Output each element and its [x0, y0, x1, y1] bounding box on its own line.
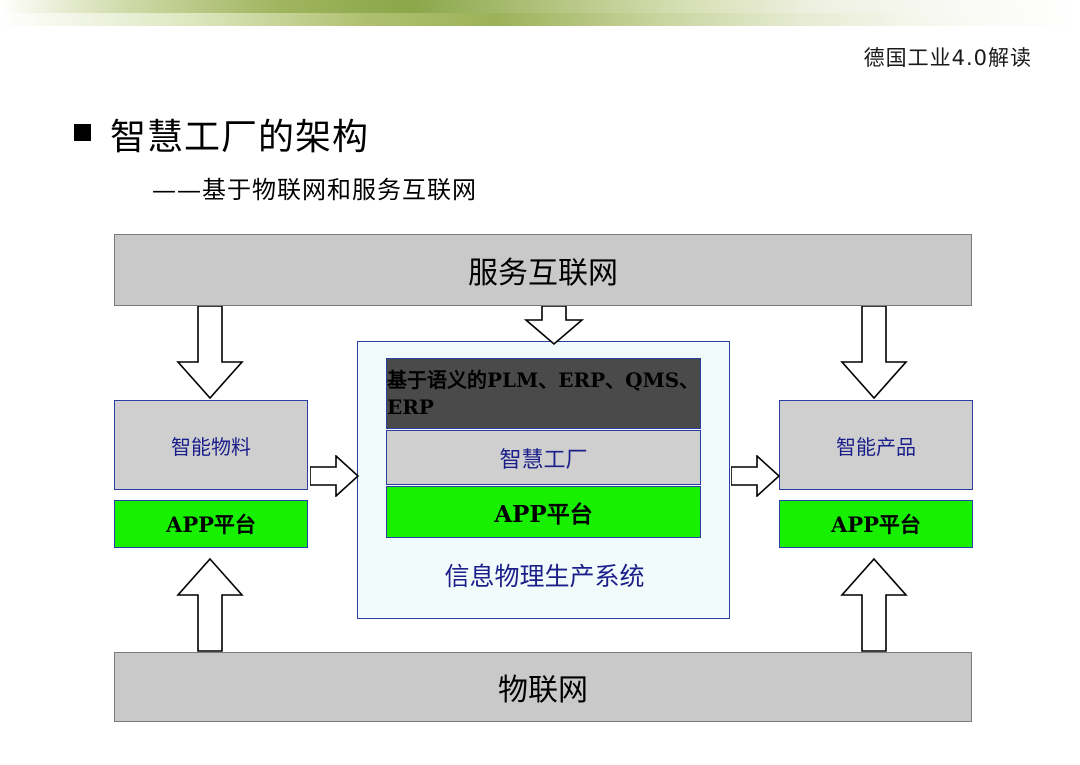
cps-panel: 基于语义的PLM、ERP、QMS、ERP 智慧工厂 APP平台 信息物理生产系统: [357, 341, 730, 619]
page-subtitle: ——基于物联网和服务互联网: [152, 170, 477, 205]
page-title: 智慧工厂的架构: [110, 108, 369, 160]
arrow-bottom-to-left: [174, 557, 246, 653]
arrow-center-to-right: [731, 455, 781, 497]
arrow-top-to-center: [522, 306, 586, 346]
left-app-platform-box: APP平台: [114, 500, 308, 548]
cps-app-platform-box: APP平台: [386, 486, 701, 538]
left-smart-material-box: 智能物料: [114, 400, 308, 490]
top-decorative-band: [0, 0, 1080, 26]
diagram-bottom-bar: 物联网: [114, 652, 972, 722]
diagram-top-bar: 服务互联网: [114, 234, 972, 306]
bullet-square-icon: [74, 124, 91, 141]
arrow-top-to-left: [174, 306, 246, 400]
cps-semantic-systems-box: 基于语义的PLM、ERP、QMS、ERP: [386, 358, 701, 429]
right-app-platform-box: APP平台: [779, 500, 973, 548]
arrow-bottom-to-right: [838, 557, 910, 653]
right-smart-product-box: 智能产品: [779, 400, 973, 490]
cps-smart-factory-box: 智慧工厂: [386, 430, 701, 485]
arrow-left-to-center: [310, 455, 360, 497]
cps-caption: 信息物理生产系统: [358, 557, 731, 593]
arrow-top-to-right: [838, 306, 910, 400]
header-title: 德国工业4.0解读: [864, 42, 1032, 72]
